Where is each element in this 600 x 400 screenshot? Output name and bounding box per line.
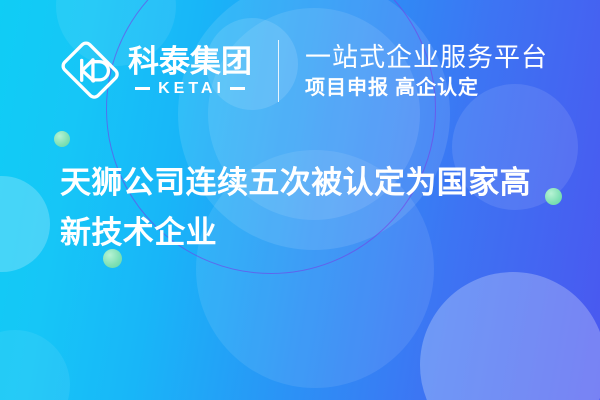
brand-name-cn: 科泰集团 [128, 45, 252, 79]
logo-rule-left [135, 87, 150, 90]
promo-banner: 科泰集团 KETAI 一站式企业服务平台 项目申报 高企认定 天狮公司连续五次被… [0, 0, 600, 400]
decorative-circle-left-edge [0, 176, 50, 272]
brand-name-en: KETAI [150, 80, 230, 98]
tagline-secondary: 项目申报 高企认定 [305, 75, 548, 101]
brand-logo[interactable]: 科泰集团 KETAI [60, 40, 252, 102]
decorative-circle-bottom-right [420, 272, 600, 400]
banner-headline: 天狮公司连续五次被认定为国家高新技术企业 [60, 158, 550, 258]
banner-header: 科泰集团 KETAI 一站式企业服务平台 项目申报 高企认定 [60, 40, 548, 102]
brand-tagline: 一站式企业服务平台 项目申报 高企认定 [305, 42, 548, 101]
header-divider [278, 40, 279, 102]
ketai-k-monogram-icon [60, 40, 122, 102]
logo-rule-right [230, 87, 245, 90]
decorative-circle-bottom-left [0, 330, 70, 400]
decorative-dot-green-upper-left [54, 131, 70, 147]
brand-logo-wordmark: 科泰集团 KETAI [128, 45, 252, 98]
tagline-primary: 一站式企业服务平台 [305, 42, 548, 73]
brand-name-en-row: KETAI [128, 80, 252, 98]
